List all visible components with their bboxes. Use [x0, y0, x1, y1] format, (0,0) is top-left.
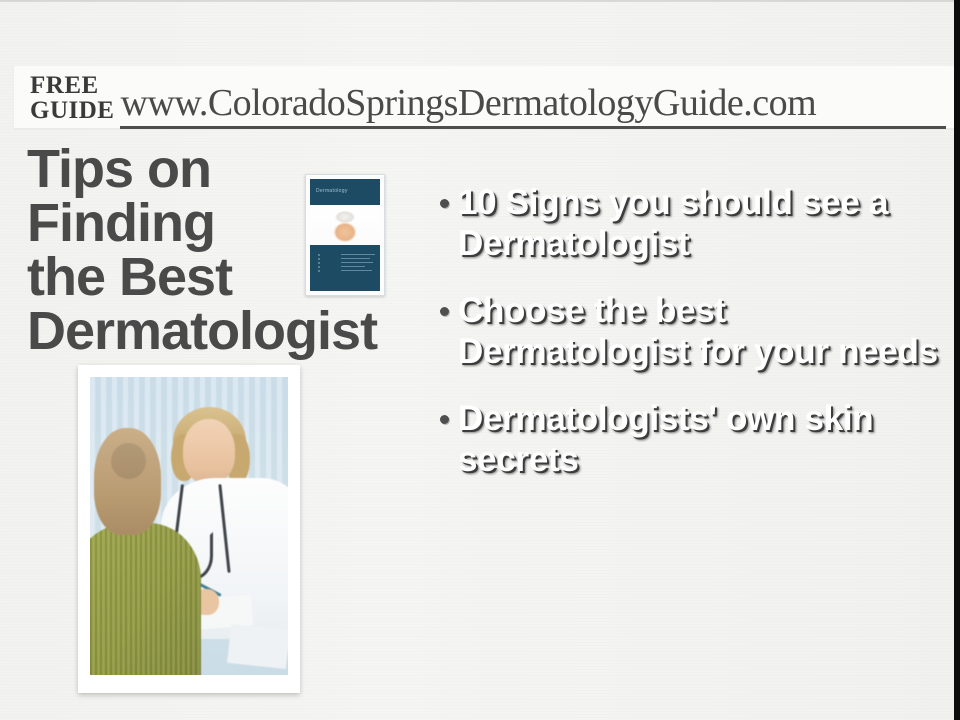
booklet-title-bar: Dermatology [310, 179, 380, 205]
booklet-text-lines [341, 254, 375, 274]
free-guide-label: FREE GUIDE [30, 71, 114, 123]
benefits-bullet-list: 10 Signs you should see a Dermatologist … [440, 182, 940, 506]
list-item: Dermatologists' own skin secrets [440, 398, 940, 480]
booklet-cover-photo [310, 205, 380, 245]
booklet-bullet-dots [318, 254, 321, 274]
doctor-photo-frame [78, 365, 300, 693]
doctor-consulting-patient-photo [90, 377, 288, 675]
page-title-line-4: Dermatologist [27, 304, 447, 358]
list-item-label: 10 Signs you should see a Dermatologist [458, 182, 940, 264]
list-item-label: Choose the best Dermatologist for your n… [458, 290, 940, 372]
bullet-dot-icon [440, 199, 449, 208]
right-edge-bar [954, 0, 960, 720]
website-url[interactable]: www.ColoradoSpringsDermatologyGuide.com [120, 81, 946, 129]
photo-soften-overlay [90, 377, 288, 675]
header-band: FREE GUIDE www.ColoradoSpringsDermatolog… [14, 66, 954, 128]
free-guide-line-2: GUIDE [30, 98, 114, 123]
top-edge-line [0, 0, 960, 2]
booklet-cover-thumbnail: Dermatology [305, 174, 385, 296]
free-guide-line-1: FREE [30, 73, 114, 98]
bullet-dot-icon [440, 307, 449, 316]
list-item-label: Dermatologists' own skin secrets [458, 398, 940, 480]
list-item: Choose the best Dermatologist for your n… [440, 290, 940, 372]
booklet-cover-title: Dermatology [316, 188, 348, 194]
bullet-dot-icon [440, 415, 449, 424]
booklet-contents-panel [310, 245, 380, 291]
list-item: 10 Signs you should see a Dermatologist [440, 182, 940, 264]
booklet-inner: Dermatology [310, 179, 380, 291]
slide-canvas: FREE GUIDE www.ColoradoSpringsDermatolog… [0, 0, 960, 720]
